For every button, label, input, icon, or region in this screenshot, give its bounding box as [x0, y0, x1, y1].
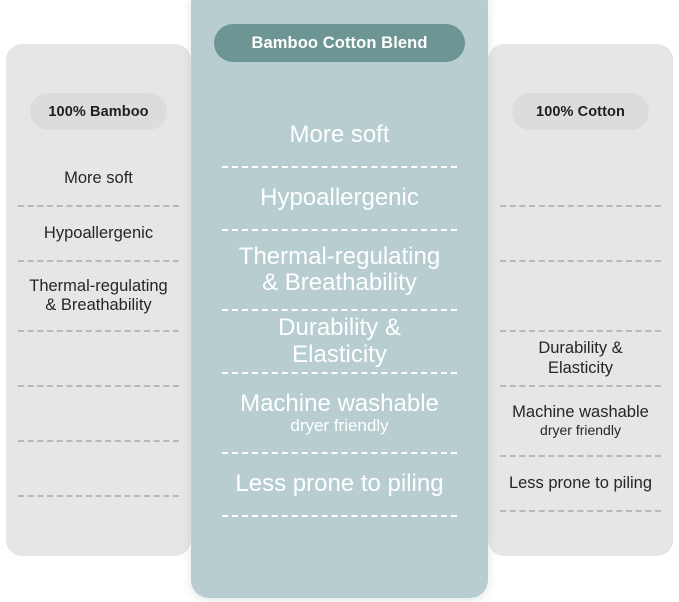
column-left-badge: 100% Bamboo	[30, 93, 167, 130]
feature-row: Hypoallergenic	[222, 168, 457, 231]
feature-label: Hypoallergenic	[260, 185, 419, 211]
feature-label: Machine washable	[512, 403, 649, 422]
feature-row: Thermal-regulating & Breathability	[18, 262, 179, 332]
feature-row: Durability & Elasticity	[500, 332, 661, 387]
feature-label: Hypoallergenic	[44, 224, 153, 243]
column-left-rows: More softHypoallergenicThermal-regulatin…	[6, 152, 191, 497]
feature-label: Thermal-regulating & Breathability	[228, 244, 451, 297]
column-right-badge: 100% Cotton	[512, 93, 649, 130]
feature-sublabel: dryer friendly	[540, 422, 621, 439]
comparison-chart: 100% Bamboo More softHypoallergenicTherm…	[0, 0, 679, 602]
feature-row-empty	[500, 152, 661, 207]
feature-row: More soft	[222, 105, 457, 168]
feature-label: Durability & Elasticity	[506, 339, 655, 378]
feature-label: Less prone to piling	[235, 471, 443, 497]
column-center-rows: More softHypoallergenicThermal-regulatin…	[191, 105, 488, 517]
feature-row: Less prone to piling	[500, 457, 661, 512]
feature-label: More soft	[64, 169, 133, 188]
feature-row-empty	[18, 387, 179, 442]
column-right-rows: Durability & ElasticityMachine washabled…	[488, 152, 673, 512]
feature-label: More soft	[289, 122, 389, 148]
feature-row: Hypoallergenic	[18, 207, 179, 262]
feature-sublabel: dryer friendly	[290, 416, 388, 436]
column-center-bamboo-cotton-blend: Bamboo Cotton Blend More softHypoallerge…	[191, 0, 488, 598]
feature-label: Thermal-regulating & Breathability	[24, 277, 173, 316]
feature-row-empty	[18, 442, 179, 497]
column-right-100-cotton: 100% Cotton Durability & ElasticityMachi…	[488, 44, 673, 556]
feature-row: Machine washabledryer friendly	[500, 387, 661, 457]
feature-row-empty	[500, 207, 661, 262]
feature-row: Less prone to piling	[222, 454, 457, 517]
feature-row: Machine washabledryer friendly	[222, 374, 457, 454]
column-center-badge: Bamboo Cotton Blend	[214, 24, 465, 62]
feature-row: More soft	[18, 152, 179, 207]
feature-row-empty	[18, 332, 179, 387]
feature-label: Less prone to piling	[509, 474, 652, 493]
column-left-100-bamboo: 100% Bamboo More softHypoallergenicTherm…	[6, 44, 191, 556]
feature-label: Durability & Elasticity	[228, 315, 451, 368]
feature-label: Machine washable	[240, 391, 439, 417]
feature-row: Thermal-regulating & Breathability	[222, 231, 457, 311]
feature-row: Durability & Elasticity	[222, 311, 457, 374]
feature-row-empty	[500, 262, 661, 332]
